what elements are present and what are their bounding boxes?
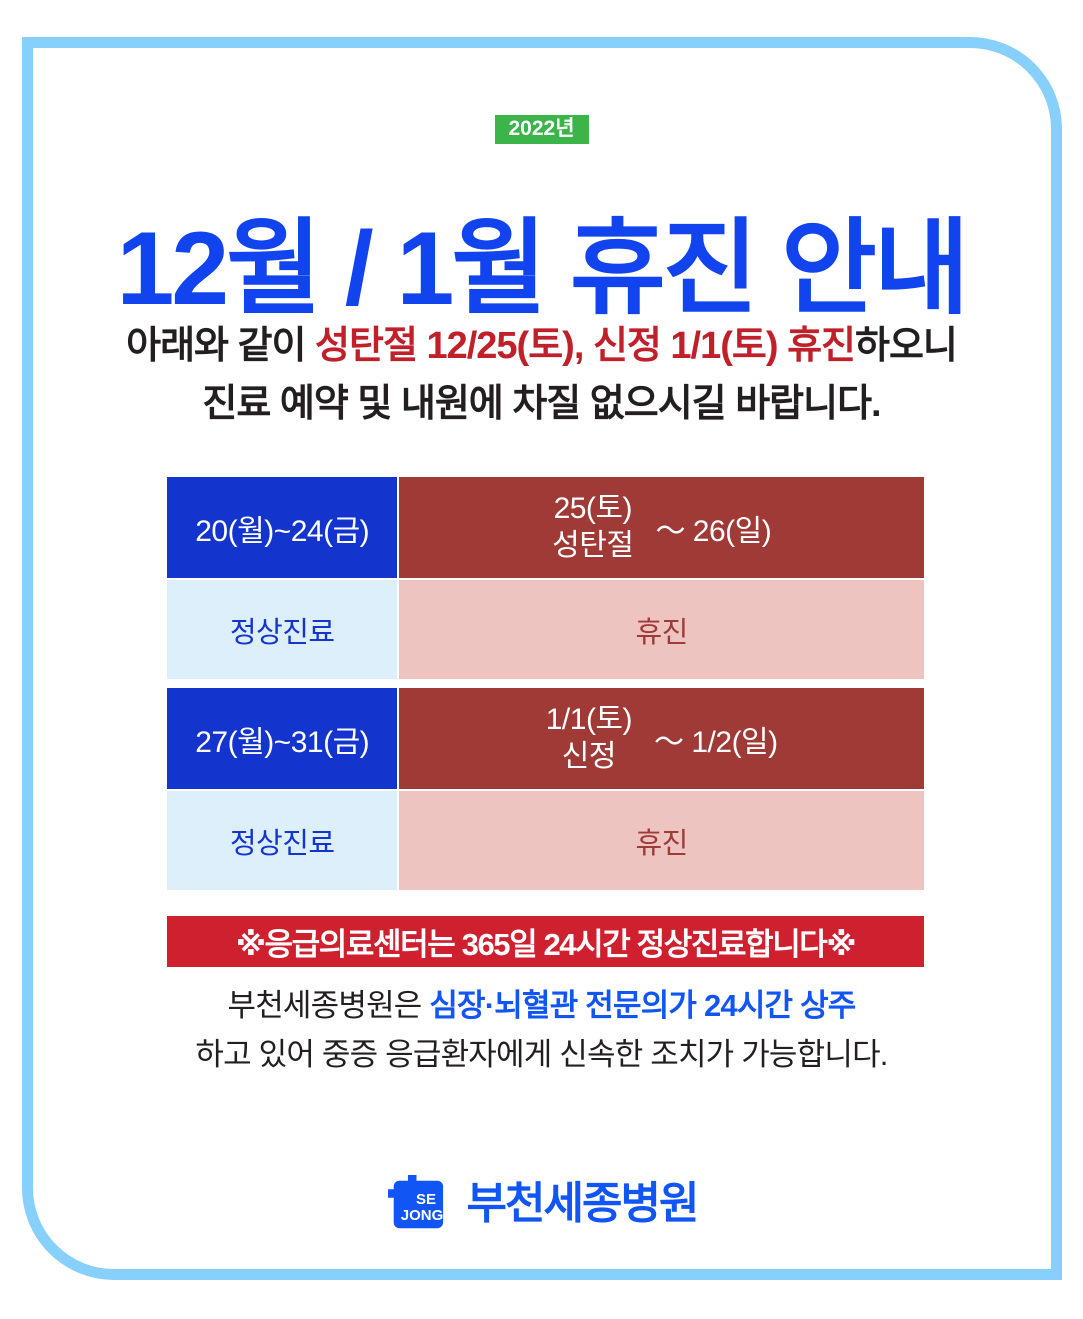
- work-range-december: 20(월)~24(금): [167, 477, 397, 578]
- holiday-range-december: 25(토) 성탄절 ～ 26(일): [399, 477, 924, 578]
- holiday-date-january: 1/1(토): [546, 702, 632, 739]
- holiday-name-january: 신정: [562, 739, 616, 776]
- sejong-logo-icon: SE JONG: [386, 1172, 450, 1236]
- svg-text:SE: SE: [416, 1191, 436, 1208]
- footer-note-line-1: 부천세종병원은 심장·뇌혈관 전문의가 24시간 상주: [0, 982, 1083, 1031]
- holiday-range-inner: 25(토) 성탄절 ～ 26(일): [552, 491, 771, 564]
- holiday-status-january: 휴진: [399, 791, 924, 890]
- work-status-january: 정상진료: [167, 791, 397, 890]
- holiday-date-stack: 1/1(토) 신정: [546, 702, 632, 775]
- holiday-tail-january: ～ 1/2(일): [654, 717, 778, 761]
- work-range-january: 27(월)~31(금): [167, 688, 397, 789]
- holiday-name-december: 성탄절: [552, 528, 633, 565]
- holiday-status-december: 휴진: [399, 580, 924, 679]
- schedule-table: 20(월)~24(금) 25(토) 성탄절 ～ 26(일) 정상진료 휴진: [167, 477, 924, 899]
- table-row-header-december: 20(월)~24(금) 25(토) 성탄절 ～ 26(일): [167, 477, 924, 578]
- table-row-header-january: 27(월)~31(금) 1/1(토) 신정 ～ 1/2(일): [167, 688, 924, 789]
- subtitle-highlight: 성탄절 12/25(토), 신정 1/1(토) 휴진: [315, 325, 855, 367]
- footer-note-line-2: 하고 있어 중증 응급환자에게 신속한 조치가 가능합니다.: [0, 1031, 1083, 1080]
- table-row-status-december: 정상진료 휴진: [167, 578, 924, 679]
- schedule-block-january: 27(월)~31(금) 1/1(토) 신정 ～ 1/2(일) 정상진료 휴진: [167, 688, 924, 890]
- table-row-status-january: 정상진료 휴진: [167, 789, 924, 890]
- work-status-december: 정상진료: [167, 580, 397, 679]
- schedule-block-december: 20(월)~24(금) 25(토) 성탄절 ～ 26(일) 정상진료 휴진: [167, 477, 924, 679]
- subtitle-prefix: 아래와 같이: [126, 325, 315, 367]
- holiday-date-december: 25(토): [554, 491, 632, 528]
- footer-note: 부천세종병원은 심장·뇌혈관 전문의가 24시간 상주 하고 있어 중증 응급환…: [0, 982, 1083, 1080]
- emergency-notice-banner: ※응급의료센터는 365일 24시간 정상진료합니다※: [167, 916, 924, 967]
- subtitle-line-1: 아래와 같이 성탄절 12/25(토), 신정 1/1(토) 휴진하오니: [0, 318, 1083, 376]
- footer-note-highlight: 심장·뇌혈관 전문의가 24시간 상주: [429, 988, 855, 1023]
- holiday-range-january: 1/1(토) 신정 ～ 1/2(일): [399, 688, 924, 789]
- footer-note-prefix: 부천세종병원은: [227, 988, 429, 1023]
- hospital-logo: SE JONG 부천세종병원: [0, 1172, 1083, 1236]
- subtitle-suffix: 하오니: [855, 325, 957, 367]
- subtitle-line-2: 진료 예약 및 내원에 차질 없으시길 바랍니다.: [0, 376, 1083, 434]
- page-title: 12월 / 1월 휴진 안내: [0, 210, 1083, 330]
- hospital-wordmark: 부천세종병원: [467, 1182, 698, 1226]
- svg-text:JONG: JONG: [400, 1207, 443, 1224]
- poster-canvas: 2022년 12월 / 1월 휴진 안내 아래와 같이 성탄절 12/25(토)…: [0, 0, 1083, 1319]
- holiday-date-stack: 25(토) 성탄절: [552, 491, 633, 564]
- holiday-range-inner: 1/1(토) 신정 ～ 1/2(일): [546, 702, 778, 775]
- holiday-tail-december: ～ 26(일): [655, 506, 771, 550]
- subtitle-text: 아래와 같이 성탄절 12/25(토), 신정 1/1(토) 휴진하오니 진료 …: [0, 318, 1083, 434]
- year-badge: 2022년: [494, 115, 588, 144]
